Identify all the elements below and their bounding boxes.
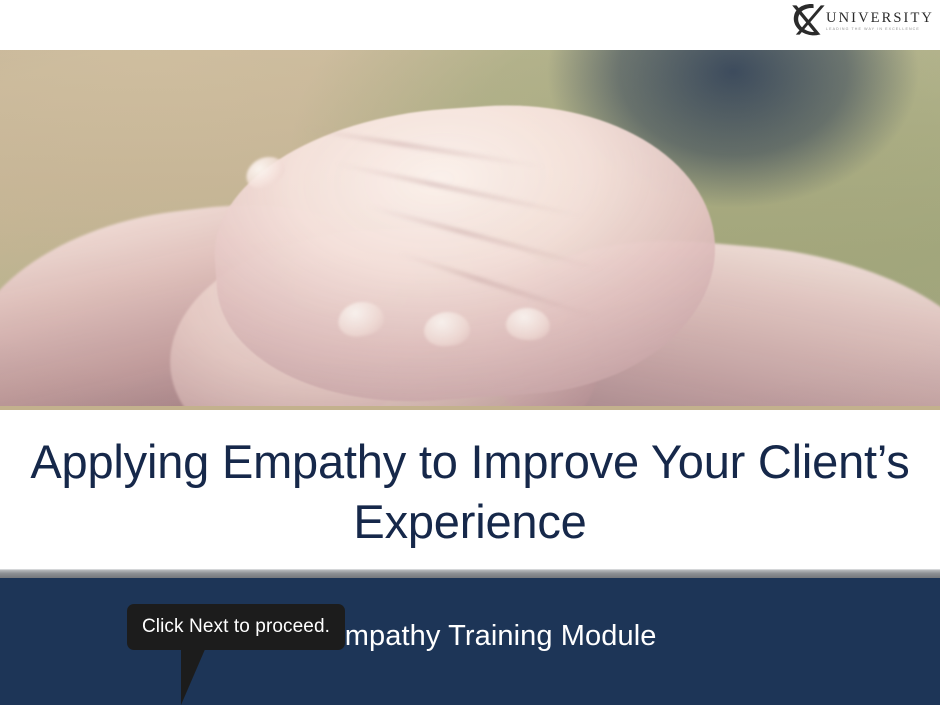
slide-header: UNIVERSITY LEADING THE WAY IN EXCELLENCE bbox=[0, 0, 940, 50]
next-hint-tooltip: Click Next to proceed. bbox=[127, 604, 345, 650]
logo-name: UNIVERSITY bbox=[826, 11, 934, 26]
tooltip-label: Click Next to proceed. bbox=[142, 616, 330, 638]
logo-text-group: UNIVERSITY LEADING THE WAY IN EXCELLENCE bbox=[826, 8, 934, 32]
university-logo: UNIVERSITY LEADING THE WAY IN EXCELLENCE bbox=[787, 2, 934, 38]
section-divider bbox=[0, 569, 940, 578]
footer-banner: An Empathy Training Module Click Next to… bbox=[0, 578, 940, 705]
tooltip-pointer-icon bbox=[181, 647, 206, 705]
x-monogram-icon bbox=[787, 2, 827, 38]
slide-root: UNIVERSITY LEADING THE WAY IN EXCELLENCE… bbox=[0, 0, 940, 705]
hero-photo-background bbox=[0, 50, 940, 406]
title-block: Applying Empathy to Improve Your Client’… bbox=[0, 414, 940, 570]
logo-tagline: LEADING THE WAY IN EXCELLENCE bbox=[826, 28, 934, 32]
page-title: Applying Empathy to Improve Your Client’… bbox=[30, 432, 910, 552]
photo-vignette bbox=[0, 50, 940, 406]
hero-image bbox=[0, 50, 940, 410]
